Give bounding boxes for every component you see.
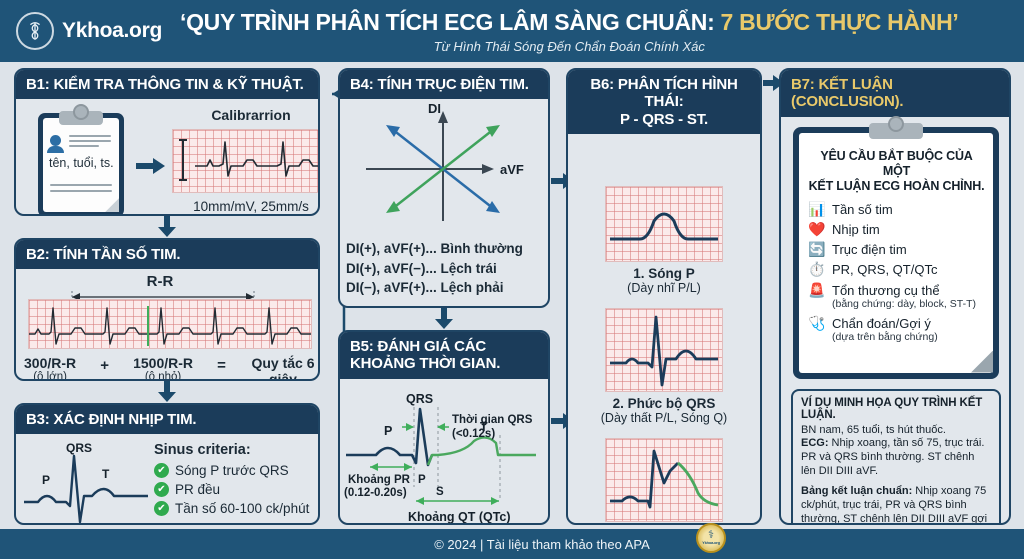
example-title: VÍ DỤ MINH HỌA QUY TRÌNH KẾT LUẬN. [801, 397, 991, 421]
patient-info-text: tên, tuổi, ts. [49, 156, 114, 170]
formula-small: (ô lớn) [24, 371, 76, 381]
formula-operator: = [217, 355, 226, 374]
formula-item: 300/R-R (ô lớn) [24, 355, 76, 381]
header-title-block: ‘QUY TRÌNH PHÂN TÍCH ECG LÂM SÀNG CHUẨN:… [180, 9, 959, 54]
criteria-item: ✔ Tần số 60-100 ck/phút [154, 501, 309, 516]
panel-b3-heading: B3: XÁC ĐỊNH NHỊP TIM. [16, 405, 318, 434]
heart-pulse-icon: ❤️ [808, 222, 825, 237]
formula-big: 1500/R-R [133, 355, 193, 371]
panel-b3: B3: XÁC ĐỊNH NHỊP TIM. QRS P T P Sinus c… [14, 403, 320, 525]
footer-seal-badge: ⚕ Ykhoa.org [696, 523, 726, 553]
example-ecg-line: ECG: Nhịp xoang, tần số 75, trục trái. P… [801, 437, 991, 479]
brand-name: Ykhoa.org [62, 19, 162, 43]
page-header: Ykhoa.org ‘QUY TRÌNH PHÂN TÍCH ECG LÂM S… [0, 0, 1024, 62]
page-footer: ⚕ Ykhoa.org © 2024 | Tài liệu tham khảo … [0, 529, 1024, 559]
flow-arrow-down-b1-b2-icon [157, 216, 177, 238]
checklist-title-line1: YÊU CẦU BẮT BUỘC CỦA MỘT [808, 149, 985, 179]
checklist-label: Tần số tim [832, 202, 893, 217]
criteria-label: PR đều [175, 482, 220, 497]
check-icon: ✔ [154, 482, 169, 497]
caduceus-icon [16, 12, 54, 50]
label-qrs-duration-line1: Thời gian QRS [452, 414, 533, 426]
criteria-label: Sóng P trước QRS [175, 463, 289, 478]
conclusion-example-box: VÍ DỤ MINH HỌA QUY TRÌNH KẾT LUẬN. BN na… [791, 389, 1001, 526]
calibration-ecg-strip [172, 129, 320, 193]
axis-diagram: DI aVF [348, 103, 538, 233]
checklist-label-sub: (bằng chứng: dày, block, ST-T) [832, 298, 976, 310]
alarm-light-icon: 🚨 [808, 283, 825, 298]
panel-b1: B1: KIỂM TRA THÔNG TIN & KỸ THUẬT. tên, … [14, 68, 320, 216]
panel-b4: B4: TÍNH TRỤC ĐIỆN TIM. [338, 68, 550, 308]
panel-b2-body: R-R 300/R-R (ô lớn) + 1500/R-R [16, 269, 318, 381]
checklist-label: Tổn thương cụ thể(bằng chứng: dày, block… [832, 283, 976, 311]
panel-b2: B2: TÍNH TẦN SỐ TIM. R-R 300/R-R (ô lớn) [14, 238, 320, 381]
example-patient-line: BN nam, 65 tuổi, ts hút thuốc. [801, 424, 991, 438]
panel-b6-heading: B6: PHÂN TÍCH HÌNH THÁI: P - QRS - ST. [568, 70, 760, 134]
example-ecg-text: Nhịp xoang, tần số 75, trục trái. PR và … [801, 437, 984, 477]
morphology-note: (Dày thất P/L, Sóng Q) [568, 411, 760, 426]
formula-item: Quy tắc 6 giây [250, 355, 316, 381]
criteria-item: ✔ Sóng P trước QRS [154, 463, 309, 478]
sinus-wave-diagram: QRS P T P [22, 440, 152, 525]
label-p-top: P [42, 473, 50, 487]
panel-b3-body: QRS P T P Sinus criteria: ✔ Sóng P trước… [16, 434, 318, 525]
page-title: ‘QUY TRÌNH PHÂN TÍCH ECG LÂM SÀNG CHUẨN:… [180, 9, 959, 36]
panel-b7-heading: B7: KẾT LUẬN (CONCLUSION). [781, 70, 1009, 117]
panel-b5-heading-line2: KHOẢNG THỜI GIAN. [350, 355, 538, 372]
label-pr-line1: Khoảng PR [348, 474, 411, 486]
panel-b6-body: 1. Sóng P (Dày nhĩ P/L) 2. Phức bộ QRS (… [568, 134, 760, 525]
footer-seal-label: Ykhoa.org [702, 540, 720, 545]
example-ecg-label: ECG: [801, 437, 829, 449]
panel-b5: B5: ĐÁNH GIÁ CÁC KHOẢNG THỜI GIAN. [338, 330, 550, 525]
panel-b2-heading: B2: TÍNH TẦN SỐ TIM. [16, 240, 318, 269]
morphology-strip-qrs [605, 308, 723, 392]
label-qrs-duration-line2: (<0.12s) [452, 428, 495, 440]
axis-rules: DI(+), aVF(+)... Bình thường DI(+), aVF(… [346, 239, 523, 298]
panel-b1-heading: B1: KIỂM TRA THÔNG TIN & KỸ THUẬT. [16, 70, 318, 99]
sinus-criteria-title: Sinus criteria: [154, 442, 309, 458]
check-icon: ✔ [154, 463, 169, 478]
checklist-label-main: Tổn thương cụ thể [832, 283, 940, 298]
axis-label-di: DI [428, 103, 441, 116]
calibration-note: 10mm/mV, 25mm/s [168, 199, 320, 214]
panel-b6: B6: PHÂN TÍCH HÌNH THÁI: P - QRS - ST. 1… [566, 68, 762, 525]
morphology-caption-2: 2. Phức bộ QRS (Dày thất P/L, Sóng Q) [568, 396, 760, 426]
formula-big: 300/R-R [24, 355, 76, 371]
infographic-root: Ykhoa.org ‘QUY TRÌNH PHÂN TÍCH ECG LÂM S… [0, 0, 1024, 559]
label-qt: Khoảng QT (QTc) [408, 510, 511, 524]
checklist-label: PR, QRS, QT/QTc [832, 262, 937, 277]
intervals-diagram: QRS P T Thời gian QRS (<0.12s) Khoảng PR… [340, 379, 550, 526]
checklist-item: ⏱️ PR, QRS, QT/QTc [808, 262, 985, 277]
panel-b5-body: QRS P T Thời gian QRS (<0.12s) Khoảng PR… [340, 379, 548, 526]
stethoscope-icon: 🩺 [808, 316, 825, 331]
checklist-item: 🩺 Chẩn đoán/Gợi ý(dựa trên bằng chứng) [808, 316, 985, 344]
panel-b5-heading: B5: ĐÁNH GIÁ CÁC KHOẢNG THỜI GIAN. [340, 332, 548, 379]
axis-label-avf: aVF [500, 162, 524, 177]
axis-rule-item: DI(+), aVF(−)... Lệch trái [346, 259, 523, 279]
rhythm-ecg-strip [28, 299, 312, 349]
panel-b7: B7: KẾT LUẬN (CONCLUSION). YÊU CẦU BẮT B… [779, 68, 1011, 525]
stopwatch-icon: ⏱️ [808, 262, 825, 277]
panel-b1-body: tên, tuổi, ts. Calibrarrion 10mm/mV, 25m… [16, 99, 318, 216]
caduceus-icon: ⚕ [708, 531, 714, 540]
flow-arrow-down-b4-b5-icon [434, 308, 454, 330]
morphology-title: 2. Phức bộ QRS [568, 396, 760, 411]
page-subtitle: Từ Hình Thái Sóng Đến Chẩn Đoán Chính Xá… [180, 39, 959, 54]
criteria-label: Tần số 60-100 ck/phút [175, 501, 309, 516]
checklist-label: Chẩn đoán/Gợi ý(dựa trên bằng chứng) [832, 316, 938, 344]
calibration-label: Calibrarrion [176, 107, 320, 123]
panel-b5-heading-line1: B5: ĐÁNH GIÁ CÁC [350, 338, 538, 355]
morphology-title: 1. Sóng P [568, 266, 760, 281]
label-p-bottom: P [70, 523, 78, 525]
morphology-caption-1: 1. Sóng P (Dày nhĩ P/L) [568, 266, 760, 296]
label-t: T [102, 467, 110, 481]
checklist-item: 📊 Tần số tim [808, 202, 985, 217]
criteria-item: ✔ PR đều [154, 482, 309, 497]
panel-b7-body: YÊU CẦU BẮT BUỘC CỦA MỘT KẾT LUẬN ECG HO… [781, 117, 1009, 526]
checklist-item: ❤️ Nhịp tim [808, 222, 985, 237]
checklist-label: Nhịp tim [832, 222, 880, 237]
panel-b6-heading-line2: P - QRS - ST. [578, 111, 750, 128]
morphology-strip-p-wave [605, 186, 723, 262]
label-qrs: QRS [406, 392, 433, 406]
flow-arrow-down-b2-b3-icon [157, 381, 177, 403]
label-p-top: P [384, 424, 392, 438]
checklist-label-sub: (dựa trên bằng chứng) [832, 331, 938, 343]
formula-item: 1500/R-R (ô nhỏ) [133, 355, 193, 381]
heart-rate-formula: 300/R-R (ô lớn) + 1500/R-R (ô nhỏ) = Quy… [24, 355, 316, 381]
conclusion-checklist-card: YÊU CẦU BẮT BUỘC CỦA MỘT KẾT LUẬN ECG HO… [793, 127, 999, 379]
checklist-title-line2: KẾT LUẬN ECG HOÀN CHỈNH. [808, 179, 985, 194]
checklist-item: 🔄 Trục điện tim [808, 242, 985, 257]
axis-rule-item: DI(−), aVF(+)... Lệch phải [346, 278, 523, 298]
panel-b4-body: DI aVF DI(+), aVF(+)... Bình thường DI(+… [340, 99, 548, 308]
page-title-main: ‘QUY TRÌNH PHÂN TÍCH ECG LÂM SÀNG CHUẨN: [180, 9, 721, 35]
formula-big: Quy tắc 6 giây [250, 355, 316, 381]
checklist-label: Trục điện tim [832, 242, 907, 257]
checklist-label-main: Chẩn đoán/Gợi ý [832, 316, 931, 331]
flow-arrow-right-icon [136, 157, 166, 180]
page-title-accent: 7 BƯỚC THỰC HÀNH’ [721, 9, 959, 35]
checklist-title: YÊU CẦU BẮT BUỘC CỦA MỘT KẾT LUẬN ECG HO… [808, 149, 985, 194]
panel-b4-heading: B4: TÍNH TRỤC ĐIỆN TIM. [340, 70, 548, 99]
clipboard-icon: tên, tuổi, ts. [38, 113, 124, 216]
brand: Ykhoa.org [0, 12, 162, 50]
sinus-criteria-list: Sinus criteria: ✔ Sóng P trước QRS ✔ PR … [154, 442, 309, 520]
refresh-cycle-icon: 🔄 [808, 242, 825, 257]
label-s: S [436, 486, 444, 498]
example-conclusion-line: Bảng kết luận chuẩn: Nhịp xoang 75 ck/ph… [801, 485, 991, 525]
checklist-item: 🚨 Tổn thương cụ thể(bằng chứng: dày, blo… [808, 283, 985, 311]
morphology-strip-st [605, 438, 723, 522]
example-conclusion-label: Bảng kết luận chuẩn: [801, 485, 912, 497]
axis-rule-item: DI(+), aVF(+)... Bình thường [346, 239, 523, 259]
bar-chart-icon: 📊 [808, 202, 825, 217]
panel-b6-heading-line1: B6: PHÂN TÍCH HÌNH THÁI: [578, 76, 750, 111]
footer-copyright: © 2024 | Tài liệu tham khảo theo APA [434, 537, 650, 552]
label-p-bottom: P [418, 474, 426, 486]
morphology-note: (Dày nhĩ P/L) [568, 281, 760, 296]
label-pr-line2: (0.12-0.20s) [344, 487, 407, 499]
label-qrs: QRS [66, 441, 92, 455]
check-icon: ✔ [154, 501, 169, 516]
rr-interval-label: R-R [70, 273, 250, 290]
formula-small: (ô nhỏ) [133, 371, 193, 381]
formula-operator: + [100, 355, 109, 374]
